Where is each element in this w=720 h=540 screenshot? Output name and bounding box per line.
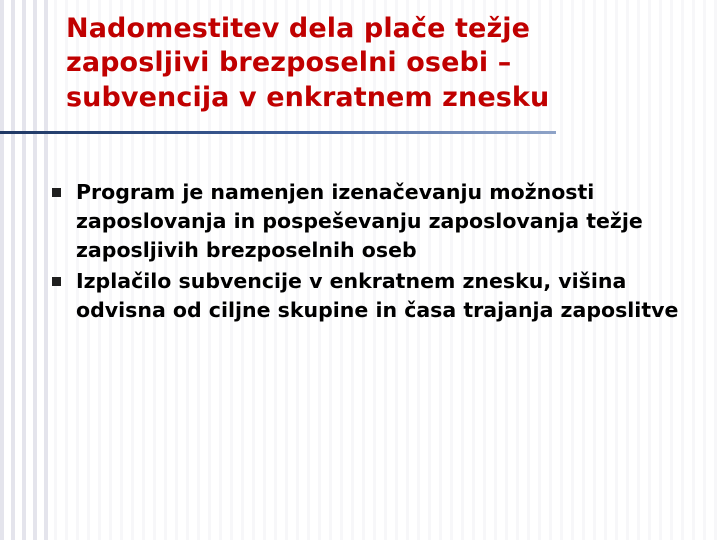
title-divider (0, 131, 556, 134)
list-item: Izplačilo subvencije v enkratnem znesku,… (52, 267, 682, 325)
list-item-text: Izplačilo subvencije v enkratnem znesku,… (76, 267, 682, 325)
square-bullet-icon (52, 178, 76, 197)
slide: Nadomestitev dela plače težje zaposljivi… (0, 0, 720, 540)
list-item: Program je namenjen izenačevanju možnost… (52, 178, 682, 265)
slide-title: Nadomestitev dela plače težje zaposljivi… (66, 12, 666, 115)
left-decorative-stripes (0, 0, 54, 540)
bullet-list: Program je namenjen izenačevanju možnost… (52, 178, 682, 328)
list-item-text: Program je namenjen izenačevanju možnost… (76, 178, 682, 265)
square-bullet-icon (52, 267, 76, 286)
